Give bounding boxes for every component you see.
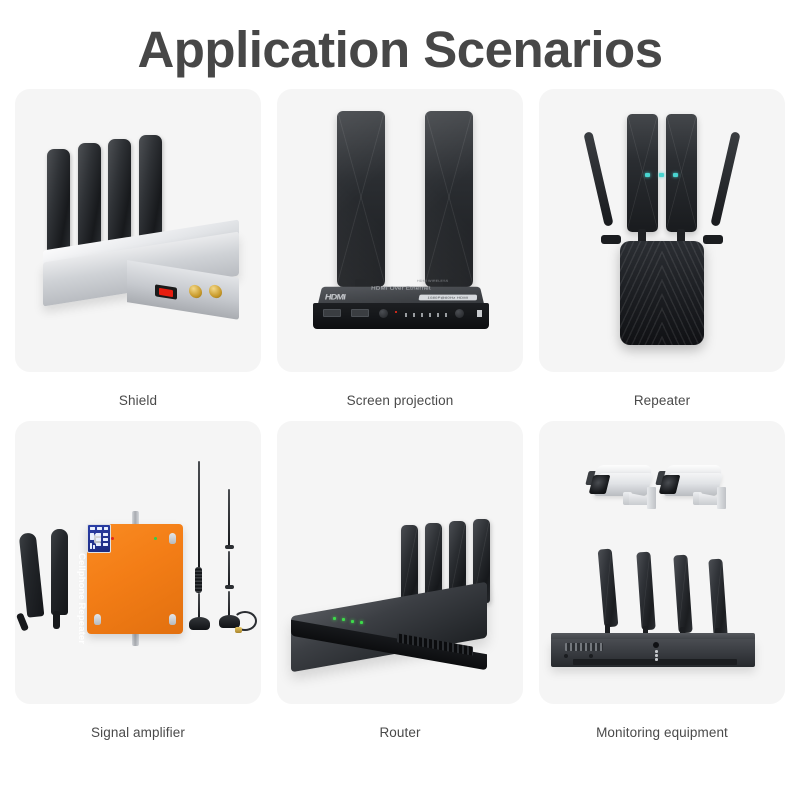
cctv-system-illustration [539, 421, 785, 704]
scenario-caption-monitoring-equipment: Monitoring equipment [596, 725, 728, 740]
booster-whip-lower-1 [198, 593, 200, 619]
scenario-caption-repeater: Repeater [634, 393, 690, 408]
nvr-led-1 [655, 650, 658, 653]
booster-panel-antenna-1 [19, 532, 45, 617]
repeater-body [620, 241, 704, 345]
screen-projection-antenna-1 [337, 111, 385, 287]
router-led-4 [360, 621, 363, 624]
scenario-card-repeater[interactable] [539, 89, 785, 372]
hdmi-port-2 [351, 309, 369, 317]
booster-power-led [154, 537, 157, 540]
nvr-led-3 [655, 658, 658, 661]
booster-whip-antenna-1 [198, 461, 200, 569]
booster-whip-coil-1 [195, 567, 202, 593]
hdmi-logo: HDMI [324, 293, 346, 301]
router-led-3 [351, 620, 354, 623]
router-led-1 [333, 617, 336, 620]
dip-pin-2 [413, 313, 415, 317]
wifi-repeater-illustration [539, 89, 785, 372]
scenario-card-signal-amplifier[interactable]: Cellphone Repeater [15, 421, 261, 704]
camera-wall-plate-1 [647, 487, 656, 509]
booster-whip-ring-2 [225, 585, 234, 589]
nvr-antenna-2 [636, 552, 655, 631]
camera-wall-plate-2 [717, 487, 726, 509]
scenario-caption-router: Router [379, 725, 420, 740]
router-led-2 [342, 618, 345, 621]
status-led-red [395, 311, 397, 313]
hdmi-extender-sub-label: HDMI WIRELESS [417, 279, 448, 282]
application-scenarios-page: Application Scenarios [0, 0, 800, 800]
scenario-caption-shield: Shield [119, 393, 157, 408]
repeater-antenna-arm-right [703, 235, 723, 244]
dip-pin-5 [437, 313, 439, 317]
booster-magnetic-base-1 [189, 617, 210, 630]
booster-mount-hole-2 [169, 533, 176, 544]
power-toggle[interactable] [477, 310, 482, 317]
booster-cable-connector [235, 627, 242, 633]
nvr-vent-slot [565, 643, 603, 651]
scenario-card-monitoring-equipment[interactable] [539, 421, 785, 704]
repeater-panel-antenna-2 [666, 114, 697, 232]
repeater-led-2 [659, 173, 664, 177]
scenario-cell-screen-projection[interactable]: HDMI WIRELESS HDMI Over Ethernet HDMI 10… [272, 89, 528, 419]
nvr-screw-1 [564, 654, 568, 658]
router-illustration [277, 421, 523, 704]
scenario-cell-router[interactable]: Router [272, 421, 528, 751]
dip-pin-1 [405, 313, 407, 317]
booster-panel-antenna-2 [51, 529, 68, 615]
scenario-cell-shield[interactable]: Shield [10, 89, 266, 419]
cctv-camera-2 [659, 459, 735, 513]
repeater-led-1 [645, 173, 650, 177]
dip-pin-3 [421, 313, 423, 317]
booster-whip-ring-1 [225, 545, 234, 549]
repeater-antenna-right [710, 131, 740, 227]
scenario-card-router[interactable] [277, 421, 523, 704]
scenario-card-screen-projection[interactable]: HDMI WIRELESS HDMI Over Ethernet HDMI 10… [277, 89, 523, 372]
page-title: Application Scenarios [0, 0, 800, 75]
nvr-antenna-4 [708, 559, 727, 638]
booster-brand-label: Cellphone Repeater [76, 553, 87, 639]
scenario-card-shield[interactable] [15, 89, 261, 372]
scenario-caption-signal-amplifier: Signal amplifier [91, 725, 185, 740]
nvr-screw-2 [589, 654, 593, 658]
repeater-led-3 [673, 173, 678, 177]
repeater-antenna-left [583, 131, 613, 227]
booster-whip-antenna-2 [228, 489, 230, 547]
hdmi-extender-spec-badge: 1080P@60Hz HDMI [418, 295, 477, 301]
repeater-antenna-arm-left [601, 235, 621, 244]
scenario-grid: Shield HDMI WIRELESS HDMI Over Ethernet … [10, 89, 790, 751]
nvr-power-button[interactable] [653, 642, 659, 648]
hdmi-extender-illustration: HDMI WIRELESS HDMI Over Ethernet HDMI 10… [277, 89, 523, 372]
booster-whip-mid-2 [228, 551, 230, 587]
shield-device-illustration [15, 89, 261, 372]
nvr-led-2 [655, 654, 658, 657]
scenario-caption-screen-projection: Screen projection [347, 393, 454, 408]
dip-pin-4 [429, 313, 431, 317]
booster-mount-hole-3 [94, 614, 101, 625]
reset-button[interactable] [379, 309, 388, 318]
cctv-camera-1 [589, 459, 665, 513]
scenario-cell-monitoring-equipment[interactable]: Monitoring equipment [534, 421, 790, 751]
signal-booster-illustration: Cellphone Repeater [15, 421, 261, 704]
dip-pin-6 [445, 313, 447, 317]
booster-lcd-display [87, 524, 111, 553]
repeater-panel-antenna-1 [627, 114, 658, 232]
scenario-cell-repeater[interactable]: Repeater [534, 89, 790, 419]
booster-whip-lower-2 [228, 591, 230, 617]
booster-status-led [111, 537, 114, 540]
booster-panel-stem-2 [53, 611, 60, 629]
booster-body: Cellphone Repeater [87, 524, 183, 634]
hdmi-extender-top-label: HDMI Over Ethernet [359, 286, 444, 292]
nvr-antenna-1 [598, 549, 619, 628]
ir-sensor-knob [455, 309, 464, 318]
nvr-antenna-3 [673, 555, 692, 634]
hdmi-port-1 [323, 309, 341, 317]
scenario-cell-signal-amplifier[interactable]: Cellphone Repeater Sig [10, 421, 266, 751]
screen-projection-antenna-2 [425, 111, 473, 287]
booster-mount-hole-4 [169, 614, 176, 625]
